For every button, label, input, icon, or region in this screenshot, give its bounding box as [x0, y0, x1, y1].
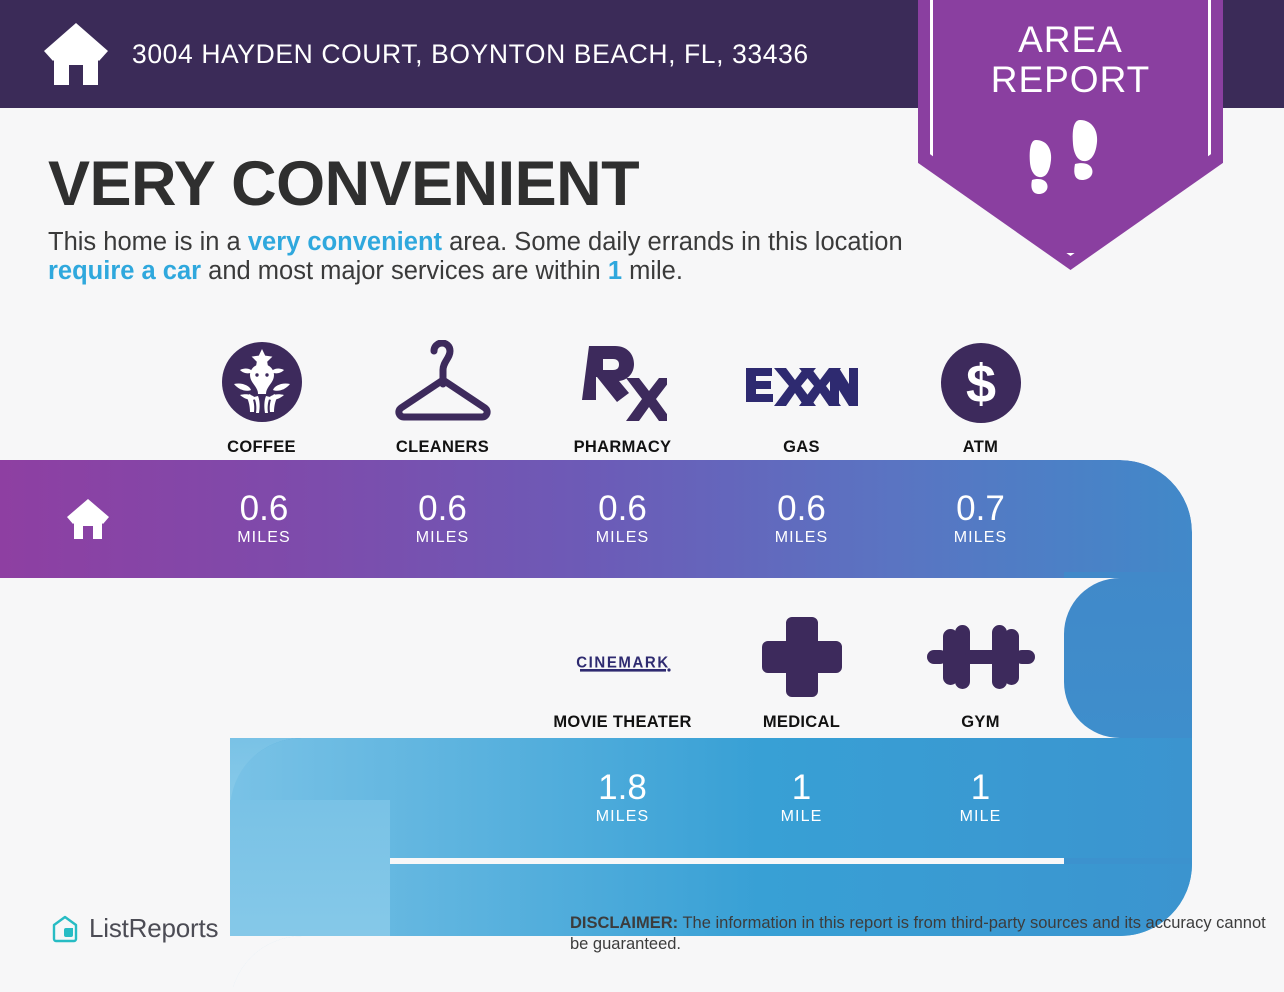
badge-line-1: AREA — [918, 20, 1223, 60]
dollar-circle-icon: $ — [940, 340, 1022, 424]
rx-prescription-icon — [579, 340, 667, 424]
svg-text:$: $ — [965, 354, 995, 414]
amenity-cell-pharmacy: PHARMACY — [533, 340, 712, 457]
medical-cross-icon — [760, 615, 844, 699]
distance-unit: MILES — [237, 529, 291, 547]
distance-value: 1 — [971, 770, 990, 806]
distance-value: 0.6 — [598, 491, 647, 527]
amenity-label: MOVIE THEATER — [553, 713, 691, 732]
distance-unit: MILES — [596, 529, 650, 547]
distance-value: 1.8 — [598, 770, 647, 806]
home-icon — [42, 21, 110, 87]
disclaimer: DISCLAIMER: The information in this repo… — [570, 913, 1282, 955]
amenity-label: GYM — [961, 713, 999, 732]
distance-unit: MILE — [781, 808, 823, 826]
distance-segment-atm: 0.7 MILES — [891, 460, 1070, 578]
distance-unit: MILES — [416, 529, 470, 547]
listreports-logo-icon — [50, 914, 80, 944]
badge-title: AREA REPORT — [918, 20, 1223, 100]
home-origin-segment — [0, 460, 175, 578]
amenity-cell-cleaners: CLEANERS — [353, 340, 532, 457]
distance-segment-pharmacy: 0.6 MILES — [533, 460, 712, 578]
distance-value: 0.7 — [956, 491, 1005, 527]
summary-text: This home is in a very convenient area. … — [48, 228, 908, 286]
home-icon — [66, 497, 110, 541]
summary-part-3: and most major services are within — [201, 257, 608, 285]
property-address: 3004 HAYDEN COURT, BOYNTON BEACH, FL, 33… — [132, 39, 809, 70]
distance-value: 1 — [792, 770, 811, 806]
page-title: VERY CONVENIENT — [48, 148, 639, 220]
footprints-icon — [1014, 116, 1126, 200]
distance-segment-coffee: 0.6 MILES — [175, 460, 353, 578]
distance-segment-gym: 1 MILE — [891, 738, 1070, 858]
disclaimer-label: DISCLAIMER: — [570, 914, 678, 932]
exxon-logo-icon — [744, 340, 860, 424]
distance-segment-cleaners: 0.6 MILES — [353, 460, 532, 578]
svg-text:CINEMARK: CINEMARK — [576, 654, 670, 671]
distance-segment-medical: 1 MILE — [712, 738, 891, 858]
distance-segment-gas: 0.6 MILES — [712, 460, 891, 578]
listreports-logo-text: ListReports — [89, 913, 218, 944]
amenity-cell-atm: $ ATM — [891, 340, 1070, 457]
distance-unit: MILES — [596, 808, 650, 826]
distance-value: 0.6 — [240, 491, 289, 527]
amenity-cell-coffee: COFFEE — [172, 340, 351, 457]
amenity-label: MEDICAL — [763, 713, 840, 732]
distance-value: 0.6 — [777, 491, 826, 527]
summary-part-1: This home is in a — [48, 228, 248, 256]
distance-segment-movie-theater: 1.8 MILES — [533, 738, 712, 858]
starbucks-logo-icon — [220, 340, 304, 424]
cinemark-logo-icon: CINEMARK — [567, 615, 679, 699]
summary-part-2: area. Some daily errands in this locatio… — [442, 228, 903, 256]
distance-value: 0.6 — [418, 491, 467, 527]
amenity-label: ATM — [963, 438, 998, 457]
dumbbell-icon — [925, 615, 1037, 699]
listreports-logo[interactable]: ListReports — [50, 913, 218, 944]
summary-highlight-2: require a car — [48, 257, 201, 285]
clothes-hanger-icon — [394, 340, 492, 424]
summary-part-4: mile. — [622, 257, 683, 285]
distance-unit: MILES — [775, 529, 829, 547]
badge-line-2: REPORT — [918, 60, 1223, 100]
amenity-label: CLEANERS — [396, 438, 489, 457]
amenity-cell-movie-theater: CINEMARK MOVIE THEATER — [533, 615, 712, 732]
summary-highlight-1: very convenient — [248, 228, 442, 256]
amenity-label: GAS — [783, 438, 820, 457]
area-report-badge: AREA REPORT — [918, 0, 1223, 270]
summary-highlight-3: 1 — [608, 257, 622, 285]
distance-unit: MILE — [960, 808, 1002, 826]
distance-unit: MILES — [954, 529, 1008, 547]
amenity-cell-gym: GYM — [891, 615, 1070, 732]
amenity-cell-medical: MEDICAL — [712, 615, 891, 732]
amenity-cell-gas: GAS — [712, 340, 891, 457]
amenity-label: PHARMACY — [574, 438, 672, 457]
amenity-label: COFFEE — [227, 438, 296, 457]
